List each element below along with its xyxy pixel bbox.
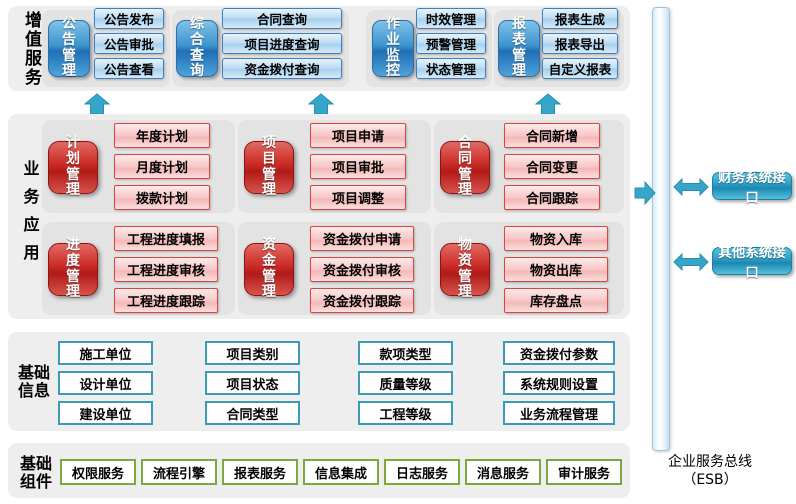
item-label: 资金拨付查询 [244,59,319,78]
esb-caption: 企业服务总线 （ESB） [630,454,790,489]
layer-label-text: 基础组件 [19,455,53,490]
item-label: 项目调整 [332,188,384,207]
item-label: 消息服务 [477,463,529,482]
module-announcement-management[interactable]: 公告管理 [48,20,90,77]
item-label: 资金拨付申请 [323,229,401,248]
item-business-process-management[interactable]: 业务流程管理 [503,401,615,425]
item-fund-allocation-params[interactable]: 资金拨付参数 [503,341,615,365]
item-payment-type[interactable]: 款项类型 [358,341,453,365]
layer-label-text: 业务应用 [20,160,39,272]
item-label: 公告查看 [104,59,154,78]
item-material-outbound[interactable]: 物资出库 [504,257,608,282]
layer-label-text: 增值服务 [21,11,41,87]
item-inventory-check[interactable]: 库存盘点 [504,288,608,313]
item-report-generate[interactable]: 报表生成 [542,8,618,29]
item-fund-allocation-apply[interactable]: 资金拨付申请 [310,226,414,251]
interface-finance-system[interactable]: 财务系统接口 [712,172,792,200]
item-project-apply[interactable]: 项目申请 [310,123,406,148]
item-allocation-plan[interactable]: 拨款计划 [114,185,210,210]
item-alert-management[interactable]: 预警管理 [416,33,486,54]
item-label: 项目申请 [332,126,384,145]
item-contract-change[interactable]: 合同变更 [504,154,600,179]
item-label: 项目进度查询 [244,34,319,53]
module-label: 计划管理 [65,136,80,199]
item-label: 工程进度跟踪 [127,291,205,310]
item-label: 资金拨付参数 [520,344,598,363]
item-material-inbound[interactable]: 物资入库 [504,226,608,251]
item-label: 合同跟踪 [526,188,578,207]
item-label: 合同变更 [526,157,578,176]
layer-label-business-application: 业务应用 [14,130,44,302]
item-label: 日志服务 [396,463,448,482]
item-timeliness-management[interactable]: 时效管理 [416,8,486,29]
module-label: 公告管理 [61,17,76,80]
module-label: 物资管理 [457,238,472,301]
item-label: 报表服务 [234,463,286,482]
module-label: 合同管理 [457,136,472,199]
item-label: 预警管理 [426,34,476,53]
esb-caption-line1: 企业服务总线 [630,454,790,472]
module-label: 资金管理 [261,238,276,301]
item-label: 工程进度填报 [127,229,205,248]
interface-label: 其他系统接口 [713,241,791,281]
module-fund-management[interactable]: 资金管理 [244,243,294,296]
item-label: 合同新增 [526,126,578,145]
layer-label-basic-components: 基础组件 [12,455,60,490]
item-label: 状态管理 [426,59,476,78]
layer-label-basic-information: 基础信息 [12,364,56,399]
item-fund-allocation-track[interactable]: 资金拨付跟踪 [310,288,414,313]
item-label: 信息集成 [315,463,367,482]
item-label: 权限服务 [72,463,124,482]
module-label: 进度管理 [65,238,80,301]
item-label: 公告审批 [104,34,154,53]
module-report-management[interactable]: 报表管理 [498,20,540,77]
item-contract-query[interactable]: 合同查询 [222,8,342,29]
item-label: 资金拨付跟踪 [323,291,401,310]
item-label: 项目审批 [332,157,384,176]
item-label: 项目状态 [226,374,278,393]
item-process-engine[interactable]: 流程引擎 [141,459,217,485]
item-label: 款项类型 [379,344,431,363]
item-label: 年度计划 [136,126,188,145]
module-progress-management[interactable]: 进度管理 [48,243,98,296]
arrow-left-right-icon-1 [673,177,709,201]
item-label: 库存盘点 [530,291,582,310]
item-label: 施工单位 [79,344,131,363]
item-announcement-approve[interactable]: 公告审批 [94,33,164,54]
item-label: 系统规则设置 [520,374,598,393]
module-material-management[interactable]: 物资管理 [440,243,490,296]
esb-bar [652,7,670,451]
arrow-left-right-icon-2 [673,252,709,276]
item-report-service[interactable]: 报表服务 [222,459,298,485]
item-label: 审计服务 [558,463,610,482]
item-project-status[interactable]: 项目状态 [205,371,300,395]
item-contract-track[interactable]: 合同跟踪 [504,185,600,210]
esb-caption-line2: （ESB） [630,472,790,490]
item-label: 报表导出 [555,34,605,53]
item-progress-track[interactable]: 工程进度跟踪 [114,288,218,313]
item-contract-add[interactable]: 合同新增 [504,123,600,148]
item-label: 设计单位 [79,374,131,393]
item-project-progress-query[interactable]: 项目进度查询 [222,33,342,54]
module-label: 项目管理 [261,136,276,199]
item-report-export[interactable]: 报表导出 [542,33,618,54]
item-design-unit[interactable]: 设计单位 [58,371,153,395]
item-construction-unit[interactable]: 施工单位 [58,341,153,365]
item-log-service[interactable]: 日志服务 [384,459,460,485]
item-label: 物资出库 [530,260,582,279]
item-label: 业务流程管理 [520,404,598,423]
item-label: 报表生成 [555,9,605,28]
item-fund-allocation-review[interactable]: 资金拨付审核 [310,257,414,282]
item-label: 工程进度审核 [127,260,205,279]
item-annual-plan[interactable]: 年度计划 [114,123,210,148]
item-label: 拨款计划 [136,188,188,207]
item-contract-type[interactable]: 合同类型 [205,401,300,425]
item-project-adjust[interactable]: 项目调整 [310,185,406,210]
item-label: 建设单位 [79,404,131,423]
item-custom-report[interactable]: 自定义报表 [542,58,618,79]
item-development-unit[interactable]: 建设单位 [58,401,153,425]
item-status-management[interactable]: 状态管理 [416,58,486,79]
module-label: 作业监控 [385,17,400,80]
item-project-grade[interactable]: 工程等级 [358,401,453,425]
item-quality-grade[interactable]: 质量等级 [358,371,453,395]
item-label: 物资入库 [530,229,582,248]
item-label: 质量等级 [379,374,431,393]
module-plan-management[interactable]: 计划管理 [48,141,98,194]
interface-other-system[interactable]: 其他系统接口 [712,247,792,275]
item-label: 公告发布 [104,9,154,28]
module-label: 报表管理 [511,17,526,80]
item-label: 月度计划 [136,157,188,176]
architecture-diagram: 增值服务 公告管理 公告发布 公告审批 公告查看 综合查询 合同查询 项目进度查… [0,0,796,504]
item-label: 合同查询 [257,9,307,28]
module-operation-monitoring[interactable]: 作业监控 [372,20,414,77]
item-progress-report[interactable]: 工程进度填报 [114,226,218,251]
item-project-category[interactable]: 项目类别 [205,341,300,365]
item-label: 项目类别 [226,344,278,363]
module-contract-management[interactable]: 合同管理 [440,141,490,194]
item-announcement-view[interactable]: 公告查看 [94,58,164,79]
item-message-service[interactable]: 消息服务 [465,459,541,485]
item-audit-service[interactable]: 审计服务 [546,459,622,485]
item-fund-allocation-query[interactable]: 资金拨付查询 [222,58,342,79]
layer-label-text: 基础信息 [17,364,51,399]
item-label: 合同类型 [226,404,278,423]
interface-label: 财务系统接口 [713,166,791,206]
module-comprehensive-query[interactable]: 综合查询 [176,20,218,77]
item-information-integration[interactable]: 信息集成 [303,459,379,485]
item-progress-review[interactable]: 工程进度审核 [114,257,218,282]
item-label: 工程等级 [379,404,431,423]
arrow-left-icon-esb [634,180,656,210]
item-project-approve[interactable]: 项目审批 [310,154,406,179]
item-system-rule-settings[interactable]: 系统规则设置 [503,371,615,395]
module-project-management[interactable]: 项目管理 [244,141,294,194]
item-label: 流程引擎 [153,463,205,482]
item-announcement-publish[interactable]: 公告发布 [94,8,164,29]
module-label: 综合查询 [189,17,204,80]
item-label: 时效管理 [426,9,476,28]
item-label: 自定义报表 [549,59,612,78]
item-label: 资金拨付审核 [323,260,401,279]
item-permission-service[interactable]: 权限服务 [60,459,136,485]
item-monthly-plan[interactable]: 月度计划 [114,154,210,179]
